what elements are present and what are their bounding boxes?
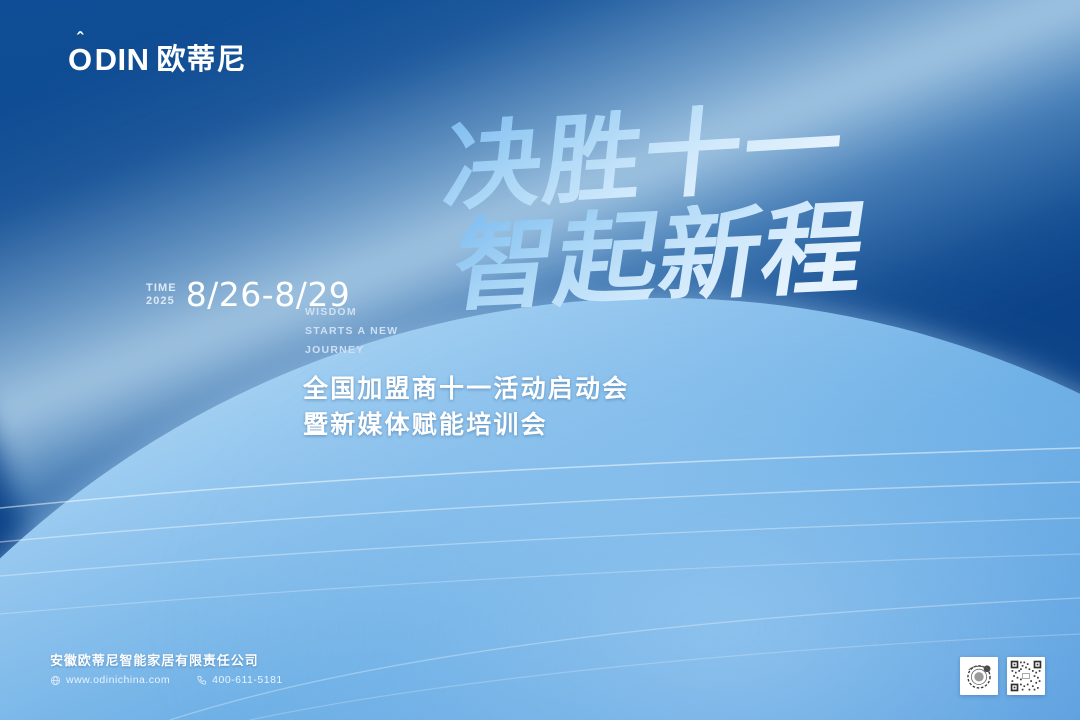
phone-icon — [196, 675, 207, 686]
title-line-2: 智起新程 — [447, 197, 873, 316]
logo-letter-o: ˆ O — [68, 44, 93, 75]
website-text: www.odinichina.com — [66, 675, 170, 686]
date-label-year: 2025 — [146, 295, 177, 308]
main-title: 决胜十一 智起新程 — [432, 108, 932, 343]
event-subtitle: 全国加盟商十一活动启动会 暨新媒体赋能培训会 — [303, 372, 629, 443]
circumflex-icon: ˆ — [77, 31, 84, 50]
qr-code-circular-graphic — [962, 659, 996, 693]
date-label-block: TIME 2025 — [146, 282, 177, 308]
subtitle-line-2: 暨新媒体赋能培训会 — [303, 408, 629, 444]
brand-logo: ˆ O DIN 欧蒂尼 — [68, 44, 247, 75]
company-name: 安徽欧蒂尼智能家居有限责任公司 — [50, 654, 283, 667]
phone-item[interactable]: 400-611-5181 — [196, 675, 283, 686]
logo-letters-din: DIN — [95, 44, 150, 75]
qr-code-square-graphic — [1009, 659, 1043, 693]
subtitle-line-1: 全国加盟商十一活动启动会 — [303, 372, 629, 408]
footer: 安徽欧蒂尼智能家居有限责任公司 www.odinichina.com 400-6… — [50, 654, 283, 686]
logo-chinese-name: 欧蒂尼 — [157, 46, 247, 75]
qr-code-wechat-official[interactable] — [960, 657, 998, 695]
tagline-line-1: WISDOM — [305, 303, 398, 322]
globe-icon — [50, 675, 61, 686]
date-label-time: TIME — [146, 282, 177, 295]
tagline-line-2: STARTS A NEW — [305, 322, 398, 341]
event-poster: ˆ O DIN 欧蒂尼 决胜十一 智起新程 TIME 2025 8/26-8/2… — [0, 0, 1080, 720]
website-item[interactable]: www.odinichina.com — [50, 675, 170, 686]
tagline-line-3: JOURNEY — [305, 341, 398, 360]
phone-text: 400-611-5181 — [212, 675, 283, 686]
qr-code-mini-program[interactable] — [1007, 657, 1045, 695]
qr-code-group — [960, 657, 1045, 695]
english-tagline: WISDOM STARTS A NEW JOURNEY — [305, 303, 398, 360]
contact-row: www.odinichina.com 400-611-5181 — [50, 675, 283, 686]
